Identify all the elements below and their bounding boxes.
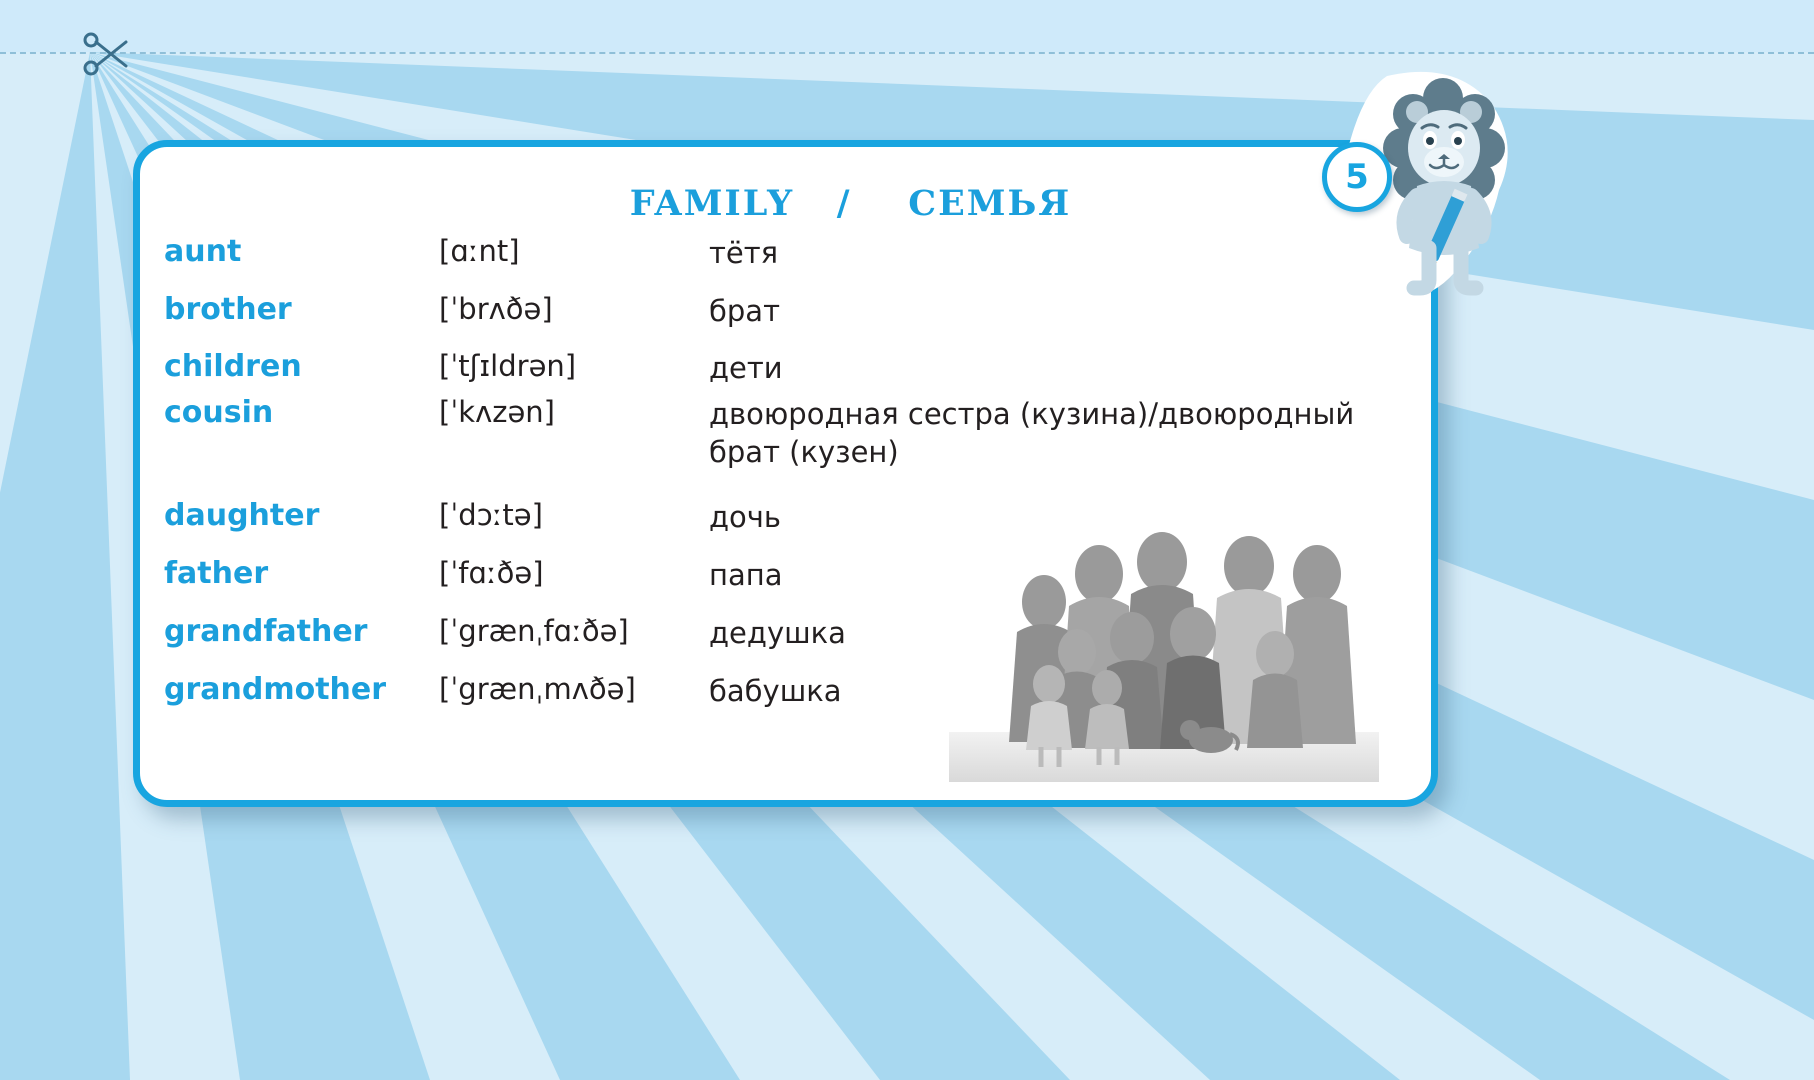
term-ipa: [ˈfɑːðə] [439, 557, 709, 590]
vocabulary-card: FAMILY / СЕМЬЯ aunt [ɑːnt] тётя brother … [133, 140, 1438, 807]
list-item: children [ˈtʃɪldrən] дети [164, 350, 1434, 388]
term-ipa: [ˈgrænˌmʌðə] [439, 673, 709, 706]
family-group-photo [949, 482, 1379, 782]
flashcard-page: FAMILY / СЕМЬЯ aunt [ɑːnt] тётя brother … [0, 0, 1814, 1080]
term-translation: дети [709, 350, 1434, 388]
list-item: aunt [ɑːnt] тётя [164, 235, 1434, 273]
term-ipa: [ˈbrʌðə] [439, 293, 709, 326]
term-english: cousin [164, 396, 439, 431]
term-ipa: [ɑːnt] [439, 235, 709, 268]
term-ipa: [ˈdɔːtə] [439, 499, 709, 532]
term-ipa: [ˈkʌzən] [439, 396, 709, 429]
term-english: brother [164, 293, 439, 328]
scissors-icon [82, 32, 130, 76]
term-english: father [164, 557, 439, 592]
term-ipa: [ˈgrænˌfɑːðə] [439, 615, 709, 648]
term-english: daughter [164, 499, 439, 534]
term-translation: двоюродная сестра (кузина)/двоюродный бр… [709, 396, 1434, 471]
list-item: cousin [ˈkʌzən] двоюродная сестра (кузин… [164, 396, 1434, 471]
term-english: children [164, 350, 439, 385]
term-english: grandfather [164, 615, 439, 650]
list-item: brother [ˈbrʌðə] брат [164, 293, 1434, 331]
page-title: FAMILY / СЕМЬЯ [140, 183, 1431, 224]
cut-line [0, 52, 1814, 54]
term-ipa: [ˈtʃɪldrən] [439, 350, 709, 383]
term-english: aunt [164, 235, 439, 270]
page-number-badge: 5 [1322, 142, 1392, 212]
term-english: grandmother [164, 673, 439, 708]
